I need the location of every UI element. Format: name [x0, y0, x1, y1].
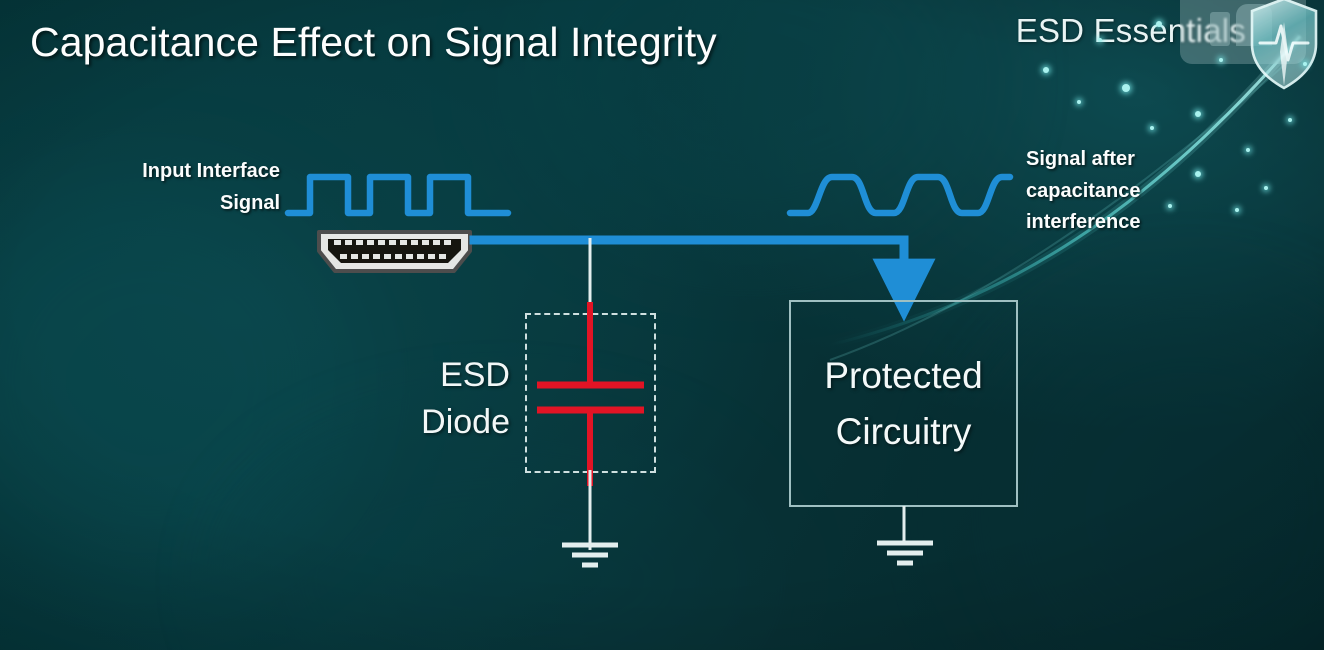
input-signal-label: Input Interface Signal [60, 156, 280, 219]
spark-particle [1043, 67, 1049, 73]
spark-particle [1150, 126, 1154, 130]
input-square-waveform [286, 170, 510, 220]
protected-circuitry-label: Protected Circuitry [824, 348, 982, 459]
slide-canvas: Capacitance Effect on Signal Integrity E… [0, 0, 1324, 650]
output-signal-label: Signal after capacitance interference [1026, 144, 1226, 239]
background-blotch [0, 180, 360, 580]
spark-particle [1264, 186, 1268, 190]
spark-particle [1219, 58, 1223, 62]
ground-icon [871, 538, 939, 570]
esd-diode-label: ESD Diode [390, 352, 510, 445]
background-blotch [240, 430, 760, 650]
background-blotch [980, 300, 1324, 650]
output-rounded-waveform [788, 168, 1012, 220]
spark-particle [1288, 118, 1292, 122]
spark-particle [1195, 111, 1201, 117]
capacitor-ground-wire [584, 470, 596, 550]
spark-particle [1235, 208, 1239, 212]
protected-circuitry-block: Protected Circuitry [789, 300, 1018, 507]
capacitor-symbol [519, 300, 664, 490]
spark-particle [1246, 148, 1250, 152]
ground-icon [556, 540, 624, 572]
hdmi-connector-icon [311, 229, 478, 275]
page-title: Capacitance Effect on Signal Integrity [30, 19, 717, 66]
shield-pulse-icon [1246, 0, 1322, 92]
spark-particle [1122, 84, 1130, 92]
spark-particle [1077, 100, 1081, 104]
